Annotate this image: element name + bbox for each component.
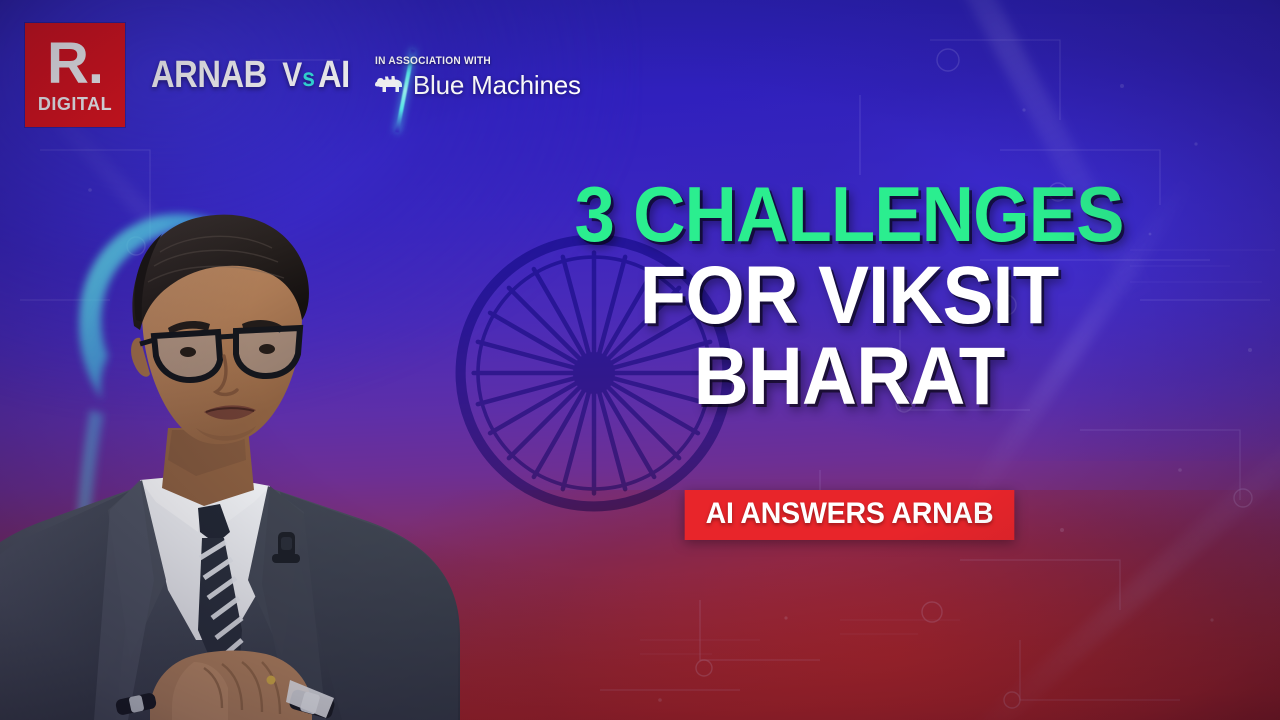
thumbnail-canvas: R. DIGITAL ARNAB Vs AI IN ASSOCIATION WI… <box>0 0 1280 720</box>
vignette-overlay <box>0 0 1280 720</box>
